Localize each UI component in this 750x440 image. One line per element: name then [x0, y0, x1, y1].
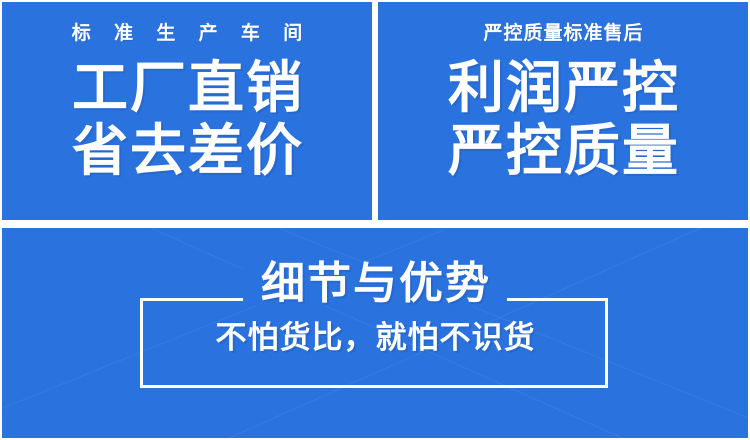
bottom-panel-title: 细节与优势 — [243, 262, 507, 306]
headline-quality-control-line1: 利润严控 — [446, 59, 680, 116]
bottom-panel-subtitle: 不怕货比，就怕不识货 — [215, 322, 536, 353]
headline-quality-control-line2: 严控质量 — [446, 122, 680, 179]
panel-details-advantages-content: 细节与优势 不怕货比，就怕不识货 — [2, 262, 748, 353]
panel-quality-control-content: 严控质量标准售后 利润严控 严控质量 — [378, 2, 748, 220]
panel-factory-direct-content: 标 准 生 产 车 间 工厂直销 省去差价 — [2, 2, 372, 220]
panel-details-advantages: 细节与优势 不怕货比，就怕不识货 — [2, 228, 748, 438]
promo-banner: 标 准 生 产 车 间 工厂直销 省去差价 严控质量标准售后 利润严控 严控质量… — [0, 0, 750, 440]
panel-quality-control: 严控质量标准售后 利润严控 严控质量 — [378, 2, 748, 220]
eyebrow-quality-aftersales: 严控质量标准售后 — [482, 24, 643, 43]
headline-factory-direct-line2: 省去差价 — [70, 122, 304, 179]
eyebrow-standard-workshop: 标 准 生 产 车 间 — [63, 24, 311, 43]
headline-factory-direct-line1: 工厂直销 — [70, 59, 304, 116]
panel-factory-direct: 标 准 生 产 车 间 工厂直销 省去差价 — [2, 2, 372, 220]
